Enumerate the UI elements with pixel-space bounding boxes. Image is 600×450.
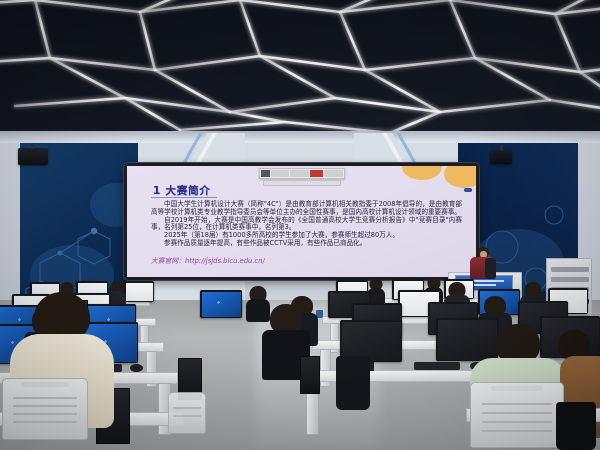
draped-coat: [336, 356, 370, 410]
slide-official-website-link[interactable]: 大赛官网：http://jsjds.blcu.edu.cn/: [151, 255, 265, 265]
chair[interactable]: [2, 378, 88, 440]
toolbar-cell[interactable]: [261, 170, 270, 177]
rack-slot: [551, 277, 589, 282]
instructor: [470, 247, 496, 279]
slide-accent-dot: [464, 188, 472, 192]
chair-vent: [13, 397, 77, 399]
monitor[interactable]: [200, 290, 242, 318]
wall-soffit: [0, 131, 600, 143]
rack-slot: [551, 267, 589, 272]
toolbar-cell[interactable]: [290, 170, 309, 177]
slide-paragraph: 参赛作品质量逐年提高，有些作品被CCTV采用，有些作品已商品化。: [151, 240, 462, 248]
chair-vent: [482, 430, 552, 432]
powerpoint-status-strip: [263, 180, 341, 186]
presentation-slide[interactable]: 1 大赛简介 中国大学生计算机设计大赛（简称"4C"）是由教育部计算机相关教指委…: [127, 166, 476, 277]
slide-title: 1 大赛简介: [153, 183, 211, 198]
chair-vent: [13, 413, 77, 415]
toolbar-record-button[interactable]: [310, 170, 323, 177]
chair-headrest: [21, 382, 68, 387]
chair[interactable]: [470, 382, 564, 448]
mouse[interactable]: [130, 364, 143, 372]
chair-vent: [13, 421, 77, 423]
slide-body-text: 中国大学生计算机设计大赛（简称"4C"）是由教育部计算机相关教指委于2008年倡…: [151, 201, 462, 249]
monitor-screen: [202, 292, 241, 317]
url-value[interactable]: http://jsjds.blcu.edu.cn/: [185, 257, 265, 265]
ceiling: [0, 0, 600, 140]
windows-logo-icon: [216, 300, 221, 305]
slide-paragraph: 中国大学生计算机设计大赛（简称"4C"）是由教育部计算机相关教指委于2008年倡…: [151, 201, 462, 216]
chair-vent: [173, 407, 200, 409]
toolbar-cell[interactable]: [324, 170, 343, 177]
chair[interactable]: [168, 392, 206, 434]
powerpoint-floating-toolbar[interactable]: [259, 168, 345, 179]
draped-coat: [556, 402, 596, 450]
monitor-screen: [342, 322, 401, 361]
speaker-mount-right: [500, 145, 503, 151]
hexagonal-led-light-array: [0, 0, 600, 140]
chair-vent: [482, 421, 552, 423]
slide-accent-blob: [444, 166, 476, 188]
monitor-screen: [126, 283, 153, 301]
chair-headrest: [491, 386, 543, 391]
speaker-mount-left: [31, 143, 34, 149]
toolbar-cell[interactable]: [271, 170, 290, 177]
instructor-jacket: [485, 258, 496, 279]
wall-speaker-left: [18, 148, 48, 165]
slide-title-underline: [151, 197, 217, 198]
wall-speaker-right: [490, 150, 512, 164]
url-label: 大赛官网：: [151, 257, 185, 265]
chair-vent: [173, 415, 200, 417]
keyboard[interactable]: [414, 362, 460, 370]
classroom-scene: 1 大赛简介 中国大学生计算机设计大赛（简称"4C"）是由教育部计算机相关教指委…: [0, 0, 600, 450]
chair-vent: [482, 412, 552, 414]
slide-accent-blob: [402, 166, 442, 180]
slide-paragraph: 自2019年开始，大赛是中国高教学会发布的《全国普通高校大学生竞赛分析报告》中"…: [151, 217, 462, 232]
monitor[interactable]: [124, 281, 154, 302]
projection-screen-bezel: 1 大赛简介 中国大学生计算机设计大赛（简称"4C"）是由教育部计算机相关教指委…: [124, 163, 479, 280]
chair-vent: [482, 403, 552, 405]
chair-vent: [13, 405, 77, 407]
pc-tower: [300, 356, 320, 394]
